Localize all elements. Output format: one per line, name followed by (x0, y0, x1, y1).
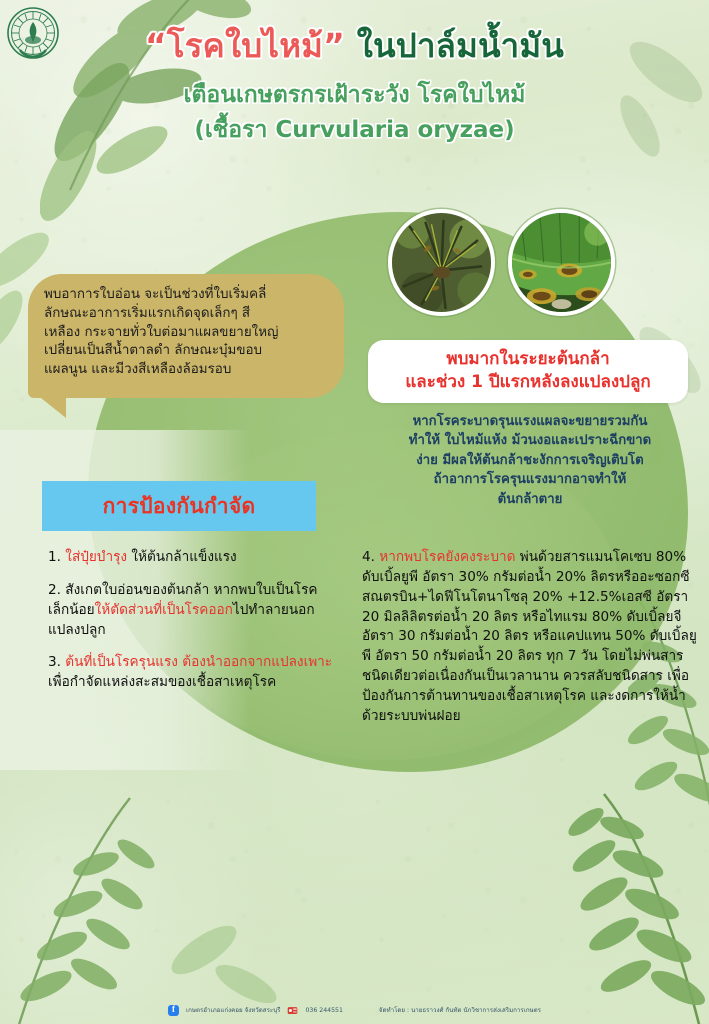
prevention-list-right: 4. หากพบโรคยังคงระบาด พ่นด้วยสารแมนโคเซบ… (362, 548, 702, 727)
symptom-text: พบอาการใบอ่อน จะเป็นช่วงที่ใบเริ่มคลี่ ล… (28, 274, 344, 380)
prevention-item: 1. ใส่ปุ๋ยบำรุง ให้ต้นกล้าแข็งแรง (48, 548, 338, 568)
prevention-item-number: 4. (362, 549, 375, 565)
severity-paragraph: หากโรคระบาดรุนแรงแผลจะขยายรวมกัน ทำให้ ใ… (358, 412, 702, 509)
prevention-item-segment: ใส่ปุ๋ยบำรุง (61, 549, 131, 565)
photo-lesion (508, 209, 615, 316)
prevention-item: 4. หากพบโรคยังคงระบาด พ่นด้วยสารแมนโคเซบ… (362, 548, 702, 727)
prevention-item-segment: ให้ต้นกล้าแข็งแรง (131, 549, 236, 565)
infographic-poster: “โรคใบไหม้” ในปาล์มน้ำมัน เตือนเกษตรกรเฝ… (0, 0, 709, 1024)
prevention-list-left: 1. ใส่ปุ๋ยบำรุง ให้ต้นกล้าแข็งแรง 2. สัง… (48, 548, 338, 693)
prevention-heading-text: การป้องกันกำจัด (103, 490, 256, 523)
prevention-item: 2. สังเกตใบอ่อนของต้นกล้า หากพบใบเป็นโรค… (48, 581, 338, 641)
diseased-seedling-image (392, 213, 491, 312)
phone-icon (287, 1005, 298, 1016)
title-rest: ในปาล์มน้ำมัน (357, 26, 564, 65)
footer: เกษตรอำเภอแก่งคอย จังหวัดสระบุรี 036 244… (0, 1000, 709, 1020)
symptom-line: เหลือง กระจายทั่วใบต่อมาแผลขยายใหญ่ (44, 324, 330, 343)
symptom-speech-bubble: พบอาการใบอ่อน จะเป็นช่วงที่ใบเริ่มคลี่ ล… (28, 274, 344, 398)
alert-banner-line-2: และช่วง 1 ปีแรกหลังลงแปลงปลูก (378, 371, 678, 394)
facebook-icon[interactable] (168, 1005, 179, 1016)
prevention-item-segment: พ่นด้วยสารแมนโคเซบ 80% ดับเบิ้ลยูพี อัตร… (362, 549, 697, 724)
severity-line: หากโรคระบาดรุนแรงแผลจะขยายรวมกัน (358, 412, 702, 431)
leaf-lesion-image (512, 213, 611, 312)
prevention-item: 3. ต้นที่เป็นโรครุนแรง ต้องนำออกจากแปลงเ… (48, 653, 338, 693)
prevention-item-number: 2. (48, 582, 61, 598)
symptom-line: เปลี่ยนเป็นสีน้ำตาลดำ ลักษณะบุ๋มขอบ (44, 342, 330, 361)
government-seal-icon (6, 6, 60, 60)
facebook-page-name: เกษตรอำเภอแก่งคอย จังหวัดสระบุรี (186, 1005, 280, 1015)
alert-banner-line-1: พบมากในระยะต้นกล้า (378, 348, 678, 371)
page-title: “โรคใบไหม้” ในปาล์มน้ำมัน (0, 26, 709, 67)
alert-banner: พบมากในระยะต้นกล้า และช่วง 1 ปีแรกหลังลง… (368, 340, 688, 403)
severity-line: ง่าย มีผลให้ต้นกล้าชะงักการเจริญเติบโต (358, 451, 702, 470)
severity-line: ต้นกล้าตาย (358, 490, 702, 509)
severity-line: ถ้าอาการโรครุนแรงมากอาจทำให้ (358, 470, 702, 489)
symptom-line: แผลนูน และมีวงสีเหลืองล้อมรอบ (44, 361, 330, 380)
prevention-item-segment: ต้นที่เป็นโรครุนแรง ต้องนำออกจากแปลงเพาะ (61, 654, 332, 670)
symptom-line: ลักษณะอาการเริ่มแรกเกิดจุดเล็กๆ สี (44, 305, 330, 324)
prevention-item-number: 3. (48, 654, 61, 670)
subtitle-line-2: (เชื้อรา Curvularia oryzae) (0, 114, 709, 147)
prevention-item-number: 1. (48, 549, 61, 565)
prevention-item-segment: หากพบโรคยังคงระบาด (375, 549, 520, 565)
author-credit: จัดทำโดย : นายธราวงศ์ กันทัต นักวิชาการส… (379, 1005, 541, 1015)
prevention-item-segment: ให้ตัดส่วนที่เป็นโรคออก (95, 602, 233, 618)
severity-line: ทำให้ ใบไหม้แห้ง ม้วนงอและเปราะฉีกขาด (358, 431, 702, 450)
phone-number: 036 244551 (305, 1007, 342, 1014)
subtitle-line-1: เตือนเกษตรกรเฝ้าระวัง โรคใบไหม้ (0, 79, 709, 112)
prevention-item-segment: เพื่อกำจัดแหล่งสะสมของเชื้อสาเหตุโรค (48, 674, 276, 690)
header-titles: “โรคใบไหม้” ในปาล์มน้ำมัน เตือนเกษตรกรเฝ… (0, 26, 709, 146)
symptom-line: พบอาการใบอ่อน จะเป็นช่วงที่ใบเริ่มคลี่ (44, 286, 330, 305)
prevention-heading-box: การป้องกันกำจัด (42, 481, 316, 531)
title-highlight: “โรคใบไหม้” (145, 26, 345, 65)
photo-seedling (388, 209, 495, 316)
